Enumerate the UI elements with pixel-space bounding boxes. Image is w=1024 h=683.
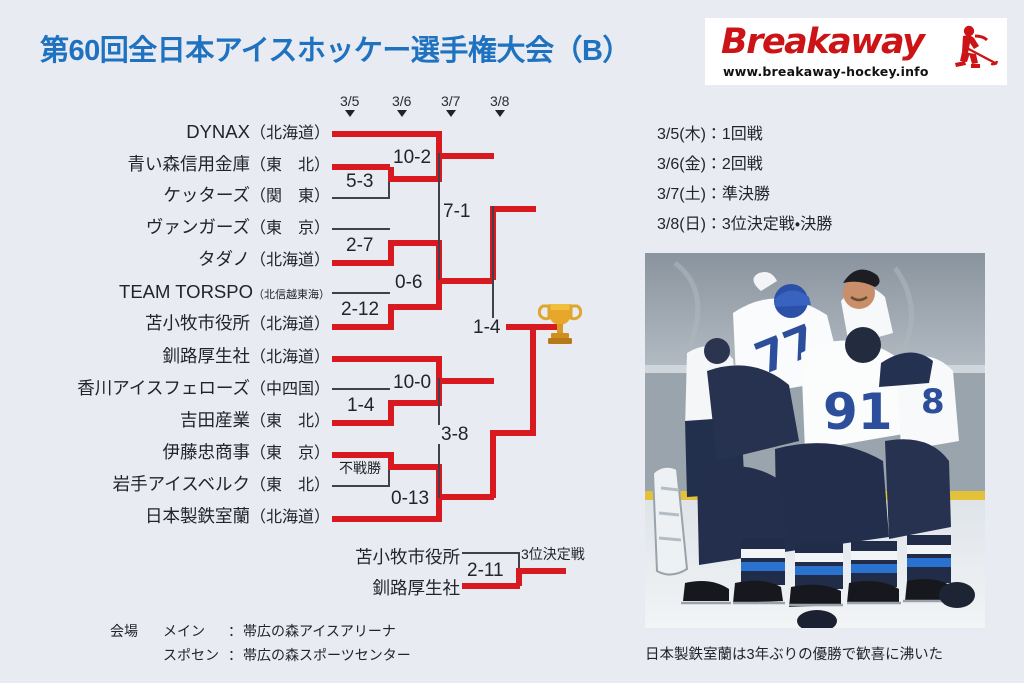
bracket-line-r1d-winner [388, 400, 442, 406]
team-region: （東 京） [250, 445, 330, 462]
team-name: DYNAX [186, 121, 250, 142]
bracket-connector-final-grey [492, 206, 494, 330]
photo-caption: 日本製鉄室蘭は3年ぶりの優勝で歓喜に沸いた [645, 643, 943, 664]
round-header-4-arrow-icon [495, 110, 505, 117]
trophy-icon [538, 300, 582, 346]
score-r2a: 10-2 [390, 148, 434, 167]
svg-text:8: 8 [921, 382, 945, 422]
third-place-winner-line [516, 568, 566, 574]
bracket-line-ketters [332, 197, 390, 199]
team-region: （東 北） [250, 477, 330, 494]
round-header-2: 3/6 [392, 93, 411, 109]
venue-heading: 会場 [110, 621, 138, 641]
round-header-2-arrow-icon [397, 110, 407, 117]
round-header-3-arrow-icon [446, 110, 456, 117]
bracket-line-aoimori [332, 164, 390, 170]
tournament-bracket-page: 第60回全日本アイスホッケー選手権大会（B） Breakaway www.bre… [0, 0, 1024, 683]
bracket-line-r1e-winner [388, 464, 442, 470]
venue-row-1-sep: ： [228, 645, 242, 665]
score-r1b: 2-7 [343, 236, 376, 255]
third-place-team-bottom: 釧路厚生社 [373, 575, 461, 600]
team-label-kagawa-ice-fellows: 香川アイスフェローズ（中四国） [77, 380, 330, 398]
schedule-item-2: 3/7(土)：準決勝 [657, 180, 770, 204]
third-place-line-top [462, 552, 520, 554]
venue-row-1-place: 帯広の森スポーツセンター [243, 645, 411, 665]
score-r1d: 1-4 [344, 396, 377, 415]
schedule-item-1: 3/6(金)：2回戦 [657, 150, 763, 174]
score-semifinal-bottom: 3-8 [438, 425, 471, 444]
score-r1c: 2-12 [338, 300, 382, 319]
round-header-1-arrow-icon [345, 110, 355, 117]
bracket-line-torspo [332, 292, 390, 294]
third-place-label: 3位決定戦 [521, 544, 585, 564]
team-region: （中四国） [250, 381, 330, 398]
team-label-kushiro-kouseisha: 釧路厚生社（北海道） [162, 348, 330, 366]
team-name: 苫小牧市役所 [145, 313, 250, 333]
third-place-score: 2-11 [464, 561, 507, 580]
team-label-ketters: ケッターズ（関 東） [163, 187, 330, 205]
bracket-line-kushiro [332, 356, 442, 362]
bracket-line-r1b-winner [388, 240, 442, 246]
schedule-item-3: 3/8(日)：3位決定戦・決勝 [657, 210, 832, 234]
round-header-3: 3/7 [441, 93, 460, 109]
team-region: （北海道） [250, 509, 330, 526]
bracket-line-dynax [332, 131, 442, 137]
score-r2d: 0-13 [388, 489, 432, 508]
team-region: （北海道） [250, 349, 330, 366]
venue-row-0-place: 帯広の森アイスアリーナ [243, 621, 396, 641]
team-name: 吉田産業 [180, 410, 250, 430]
team-region: （関 東） [250, 188, 330, 205]
team-label-tomakomai-shiyakusho: 苫小牧市役所（北海道） [145, 315, 330, 333]
team-label-itochu-shoji: 伊藤忠商事（東 京） [162, 444, 330, 462]
team-name: 伊藤忠商事 [162, 442, 250, 462]
venue-row-1-name: スポセン [163, 645, 219, 665]
team-name: 岩手アイスベルク [113, 474, 250, 494]
team-label-iwate-iceberg: 岩手アイスベルク（東 北） [113, 476, 330, 494]
third-place-line-bottom [462, 583, 520, 589]
logo-wordmark: Breakaway [721, 22, 923, 62]
team-region: （北海道） [250, 316, 330, 333]
team-label-yoshida-sangyo: 吉田産業（東 北） [180, 412, 330, 430]
bracket-line-vanguards [332, 228, 390, 230]
bracket-connector-final [530, 324, 536, 434]
bracket-line-r2c-winner [436, 378, 494, 384]
team-region: （北海道） [250, 252, 330, 269]
team-name: タダノ [198, 249, 250, 269]
score-semifinal-top: 7-1 [440, 202, 473, 221]
bracket-connector-sf-bottom [490, 430, 496, 498]
bracket-line-r1a-winner [388, 176, 442, 182]
score-r1a: 5-3 [343, 172, 376, 191]
page-title: 第60回全日本アイスホッケー選手権大会（B） [40, 27, 631, 69]
bracket-line-iwate [332, 485, 390, 487]
team-name: ケッターズ [163, 185, 250, 205]
score-r2b: 0-6 [392, 273, 425, 292]
svg-text:91: 91 [823, 383, 893, 441]
bracket-line-r2a-winner [436, 153, 494, 159]
team-region: （北信越東海） [253, 289, 330, 301]
team-name: ヴァンガーズ [146, 217, 250, 237]
team-label-dynax: DYNAX（北海道） [186, 123, 330, 142]
team-name: 香川アイスフェローズ [77, 378, 250, 398]
team-name: 釧路厚生社 [162, 346, 250, 366]
team-name: TEAM TORSPO [119, 281, 253, 302]
team-region: （東 北） [250, 157, 330, 174]
team-label-nippon-steel-muroran: 日本製鉄室蘭（北海道） [145, 508, 330, 526]
bracket-line-muroran [332, 516, 442, 522]
third-place-team-top: 苫小牧市役所 [355, 544, 460, 569]
team-label-tadano: タダノ（北海道） [198, 251, 330, 269]
score-final: 1-4 [470, 318, 503, 337]
team-label-vanguards: ヴァンガーズ（東 京） [146, 219, 330, 237]
round-header-1: 3/5 [340, 93, 359, 109]
team-region: （東 京） [250, 220, 330, 237]
team-region: （北海道） [250, 125, 330, 142]
bracket-line-r1c-winner [388, 304, 442, 310]
hockey-player-icon [933, 24, 999, 74]
schedule-item-0: 3/5(木)：1回戦 [657, 120, 763, 144]
team-label-team-torspo: TEAM TORSPO（北信越東海） [119, 283, 330, 302]
venue-row-0-sep: ： [228, 621, 242, 641]
bracket-line-itochu [332, 452, 390, 458]
bracket-line-tomakomai [332, 324, 390, 330]
round-header-4: 3/8 [490, 93, 509, 109]
bracket-line-yoshida [332, 420, 390, 426]
bracket-line-kagawa [332, 388, 390, 390]
bracket-line-r2d-winner [436, 494, 494, 500]
team-label-aoimori: 青い森信用金庫（東 北） [127, 156, 330, 174]
bracket-line-r2b-winner [436, 278, 494, 284]
team-name: 日本製鉄室蘭 [145, 506, 250, 526]
score-r1e: 不戦勝 [336, 461, 384, 475]
breakaway-logo: Breakaway www.breakaway-hockey.info [705, 18, 1007, 85]
team-name: 青い森信用金庫 [127, 154, 250, 174]
score-r2c: 10-0 [390, 373, 434, 392]
venue-row-0-name: メイン [163, 621, 205, 641]
team-region: （東 北） [250, 413, 330, 430]
celebration-photo: 77 91 8 [645, 253, 985, 628]
bracket-line-tadano [332, 260, 390, 266]
bracket-line-sf-top-winner [490, 206, 536, 212]
logo-url-text: www.breakaway-hockey.info [723, 64, 929, 79]
